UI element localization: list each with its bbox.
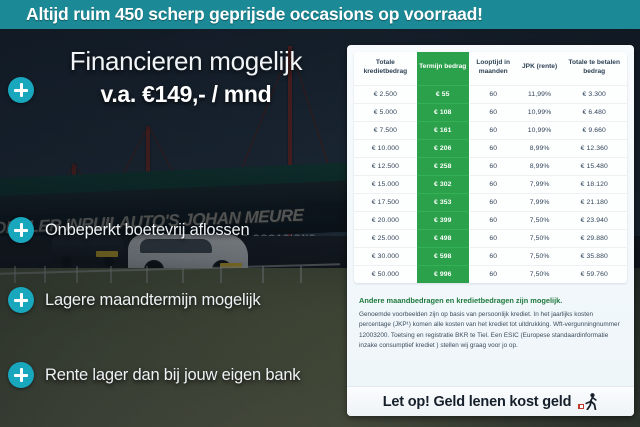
cell-termijn: € 258 bbox=[417, 157, 469, 175]
cell-looptijd: 60 bbox=[469, 265, 518, 283]
promo-bullet-1: Onbeperkt boetevrij aflossen bbox=[8, 217, 348, 243]
cell-krediet: € 15.000 bbox=[354, 175, 417, 193]
headline-banner-text: Altijd ruim 450 scherp geprijsde occasio… bbox=[0, 4, 483, 25]
promo-bullet-label: Onbeperkt boetevrij aflossen bbox=[45, 221, 249, 240]
table-row: € 20.000€ 399607,50%€ 23.940 bbox=[354, 211, 627, 229]
table-row: € 10.000€ 206608,99%€ 12.360 bbox=[354, 139, 627, 157]
cell-krediet: € 25.000 bbox=[354, 229, 417, 247]
cell-totaal: € 21.180 bbox=[561, 193, 627, 211]
plus-circle-icon bbox=[8, 287, 34, 313]
rates-table-container: Totale kredietbedrag Termijn bedrag Loop… bbox=[354, 52, 627, 283]
cell-totaal: € 9.660 bbox=[561, 121, 627, 139]
cell-totaal: € 6.480 bbox=[561, 103, 627, 121]
cell-jkp: 7,50% bbox=[518, 265, 562, 283]
promo-column: Financieren mogelijk v.a. €149,- / mnd O… bbox=[0, 29, 348, 427]
cell-totaal: € 29.880 bbox=[561, 229, 627, 247]
column-header-termijn: Termijn bedrag bbox=[417, 52, 469, 85]
cell-termijn: € 598 bbox=[417, 247, 469, 265]
note-title: Andere maandbedragen en kredietbedragen … bbox=[359, 296, 622, 305]
cell-termijn: € 996 bbox=[417, 265, 469, 283]
rates-table-body: € 2.500€ 556011,99%€ 3.300€ 5.000€ 10860… bbox=[354, 85, 627, 283]
advertisement-banner: DEALER INRUILAUTO'S JOHAN MEURE ALTIJD 4… bbox=[0, 0, 640, 427]
table-row: € 2.500€ 556011,99%€ 3.300 bbox=[354, 85, 627, 103]
warning-bar: Let op! Geld lenen kost geld bbox=[347, 386, 634, 416]
table-header-row: Totale kredietbedrag Termijn bedrag Loop… bbox=[354, 52, 627, 85]
cell-looptijd: 60 bbox=[469, 121, 518, 139]
column-header-jkp: JPK (rente) bbox=[518, 52, 562, 85]
cell-krediet: € 17.500 bbox=[354, 193, 417, 211]
cell-totaal: € 15.480 bbox=[561, 157, 627, 175]
plus-circle-icon bbox=[8, 362, 34, 388]
cell-termijn: € 206 bbox=[417, 139, 469, 157]
cell-jkp: 8,99% bbox=[518, 139, 562, 157]
column-header-krediet: Totale kredietbedrag bbox=[354, 52, 417, 85]
promo-bullet-2: Lagere maandtermijn mogelijk bbox=[8, 287, 348, 313]
cell-krediet: € 5.000 bbox=[354, 103, 417, 121]
cell-looptijd: 60 bbox=[469, 139, 518, 157]
cell-totaal: € 59.760 bbox=[561, 265, 627, 283]
cell-looptijd: 60 bbox=[469, 211, 518, 229]
cell-krediet: € 10.000 bbox=[354, 139, 417, 157]
cell-krediet: € 30.000 bbox=[354, 247, 417, 265]
cell-totaal: € 12.360 bbox=[561, 139, 627, 157]
promo-headline: Financieren mogelijk v.a. €149,- / mnd bbox=[30, 47, 342, 108]
cell-jkp: 11,99% bbox=[518, 85, 562, 103]
cell-looptijd: 60 bbox=[469, 247, 518, 265]
cell-termijn: € 302 bbox=[417, 175, 469, 193]
cell-termijn: € 108 bbox=[417, 103, 469, 121]
table-row: € 50.000€ 996607,50%€ 59.760 bbox=[354, 265, 627, 283]
cell-jkp: 8,99% bbox=[518, 157, 562, 175]
cell-totaal: € 3.300 bbox=[561, 85, 627, 103]
cell-jkp: 7,99% bbox=[518, 193, 562, 211]
cell-looptijd: 60 bbox=[469, 193, 518, 211]
cell-jkp: 7,50% bbox=[518, 247, 562, 265]
plus-circle-icon bbox=[8, 217, 34, 243]
cell-looptijd: 60 bbox=[469, 175, 518, 193]
cell-jkp: 7,50% bbox=[518, 229, 562, 247]
cell-krediet: € 2.500 bbox=[354, 85, 417, 103]
cell-krediet: € 20.000 bbox=[354, 211, 417, 229]
column-header-totaal: Totale te betalen bedrag bbox=[561, 52, 627, 85]
cell-totaal: € 18.120 bbox=[561, 175, 627, 193]
cell-jkp: 10,99% bbox=[518, 121, 562, 139]
column-header-looptijd: Looptijd in maanden bbox=[469, 52, 518, 85]
cell-totaal: € 23.940 bbox=[561, 211, 627, 229]
promo-bullet-label: Rente lager dan bij jouw eigen bank bbox=[45, 366, 300, 385]
cell-termijn: € 161 bbox=[417, 121, 469, 139]
warning-text: Let op! Geld lenen kost geld bbox=[383, 394, 572, 410]
table-row: € 25.000€ 498607,50%€ 29.880 bbox=[354, 229, 627, 247]
cell-termijn: € 55 bbox=[417, 85, 469, 103]
cell-looptijd: 60 bbox=[469, 103, 518, 121]
cell-jkp: 7,99% bbox=[518, 175, 562, 193]
walking-man-logo-icon bbox=[578, 393, 598, 410]
cell-totaal: € 35.880 bbox=[561, 247, 627, 265]
finance-info-card: Totale kredietbedrag Termijn bedrag Loop… bbox=[347, 45, 634, 416]
cell-looptijd: 60 bbox=[469, 229, 518, 247]
table-row: € 17.500€ 353607,99%€ 21.180 bbox=[354, 193, 627, 211]
table-row: € 15.000€ 302607,99%€ 18.120 bbox=[354, 175, 627, 193]
cell-krediet: € 12.500 bbox=[354, 157, 417, 175]
rates-table: Totale kredietbedrag Termijn bedrag Loop… bbox=[354, 52, 627, 283]
note-body: Genoemde voorbeelden zijn op basis van p… bbox=[359, 310, 622, 352]
table-row: € 7.500€ 1616010,99%€ 9.660 bbox=[354, 121, 627, 139]
cell-looptijd: 60 bbox=[469, 85, 518, 103]
cell-jkp: 7,50% bbox=[518, 211, 562, 229]
table-row: € 12.500€ 258608,99%€ 15.480 bbox=[354, 157, 627, 175]
headline-banner: Altijd ruim 450 scherp geprijsde occasio… bbox=[0, 0, 640, 29]
cell-termijn: € 498 bbox=[417, 229, 469, 247]
table-row: € 5.000€ 1086010,99%€ 6.480 bbox=[354, 103, 627, 121]
walking-man-figure bbox=[584, 393, 598, 410]
cell-termijn: € 399 bbox=[417, 211, 469, 229]
cell-jkp: 10,99% bbox=[518, 103, 562, 121]
table-row: € 30.000€ 598607,50%€ 35.880 bbox=[354, 247, 627, 265]
cell-krediet: € 50.000 bbox=[354, 265, 417, 283]
promo-headline-line2: v.a. €149,- / mnd bbox=[30, 81, 342, 108]
promo-bullet-label: Lagere maandtermijn mogelijk bbox=[45, 291, 260, 310]
promo-headline-line1: Financieren mogelijk bbox=[30, 47, 342, 75]
promo-bullet-3: Rente lager dan bij jouw eigen bank bbox=[8, 362, 348, 388]
cell-looptijd: 60 bbox=[469, 157, 518, 175]
cell-krediet: € 7.500 bbox=[354, 121, 417, 139]
cell-termijn: € 353 bbox=[417, 193, 469, 211]
